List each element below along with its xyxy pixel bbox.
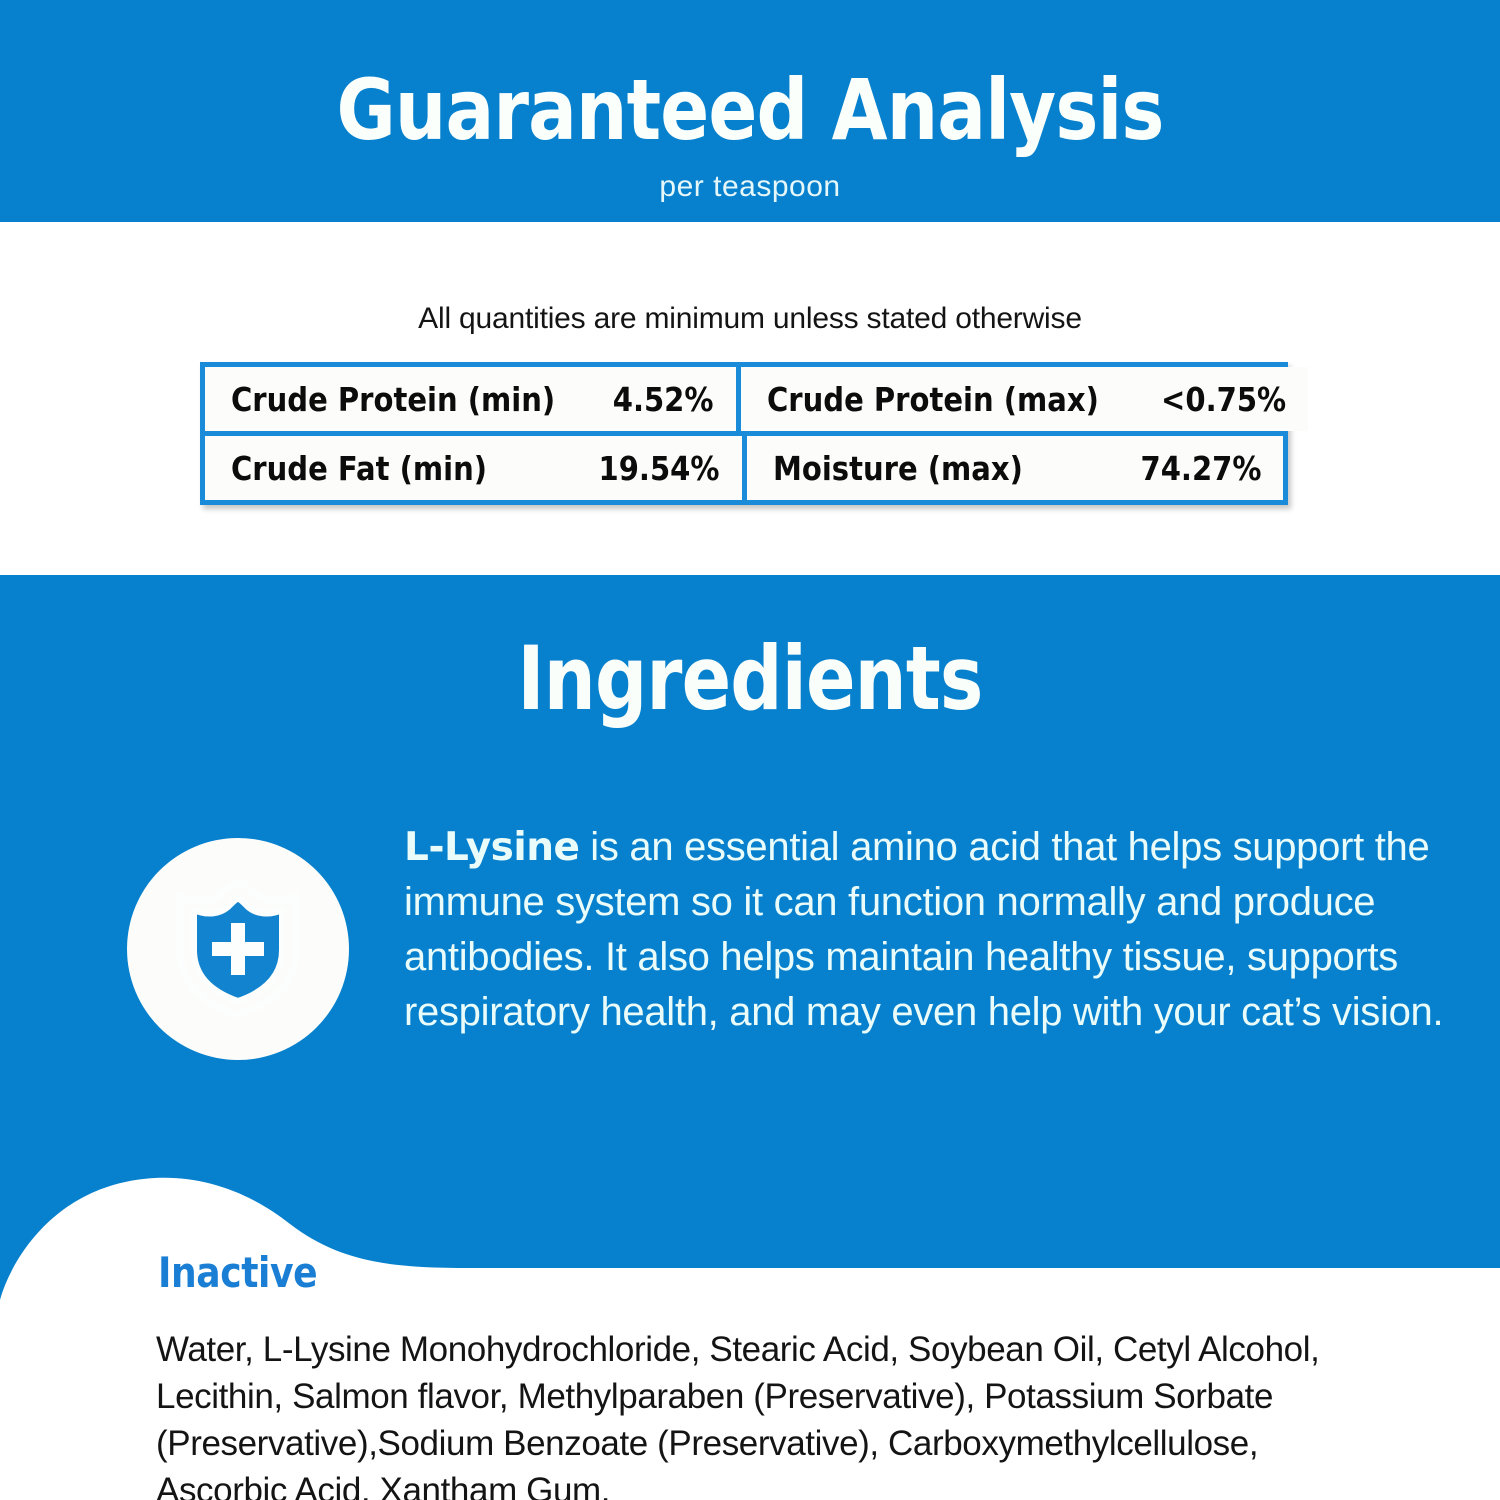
guaranteed-analysis-header: Guaranteed Analysis per teaspoon [0, 0, 1500, 222]
analysis-note: All quantities are minimum unless stated… [0, 302, 1500, 336]
lysine-description: L-Lysine is an essential amino acid that… [404, 820, 1464, 1040]
guaranteed-analysis-section: All quantities are minimum unless stated… [0, 222, 1500, 575]
nutrient-label: Crude Protein (max) [767, 380, 1099, 419]
table-cell-crude-fat-min: Crude Fat (min) 19.54% [205, 436, 742, 500]
inactive-heading: Inactive [158, 1248, 317, 1297]
nutrient-value: <0.75% [1161, 380, 1286, 419]
table-row: Crude Fat (min) 19.54% Moisture (max) 74… [205, 436, 1283, 500]
page-title: Guaranteed Analysis [105, 66, 1395, 154]
inactive-ingredients-text: Water, L-Lysine Monohydrochloride, Stear… [156, 1326, 1346, 1500]
shield-plus-icon [127, 838, 349, 1060]
nutrient-label: Crude Protein (min) [231, 380, 555, 419]
table-row: Crude Protein (min) 4.52% Crude Protein … [205, 367, 1283, 431]
guaranteed-analysis-table: Crude Protein (min) 4.52% Crude Protein … [200, 362, 1288, 505]
lysine-term: L-Lysine [404, 825, 579, 870]
nutrient-value: 19.54% [599, 449, 720, 488]
nutrient-value: 4.52% [613, 380, 714, 419]
table-cell-crude-protein-min: Crude Protein (min) 4.52% [205, 367, 736, 431]
nutrient-value: 74.27% [1140, 449, 1261, 488]
ingredients-title: Ingredients [128, 633, 1373, 725]
nutrient-label: Crude Fat (min) [231, 449, 487, 488]
product-label-page: Guaranteed Analysis per teaspoon All qua… [0, 0, 1500, 1500]
table-cell-crude-protein-max: Crude Protein (max) <0.75% [741, 367, 1308, 431]
table-cell-moisture-max: Moisture (max) 74.27% [747, 436, 1284, 500]
header-subtitle: per teaspoon [0, 170, 1500, 204]
nutrient-label: Moisture (max) [773, 449, 1023, 488]
